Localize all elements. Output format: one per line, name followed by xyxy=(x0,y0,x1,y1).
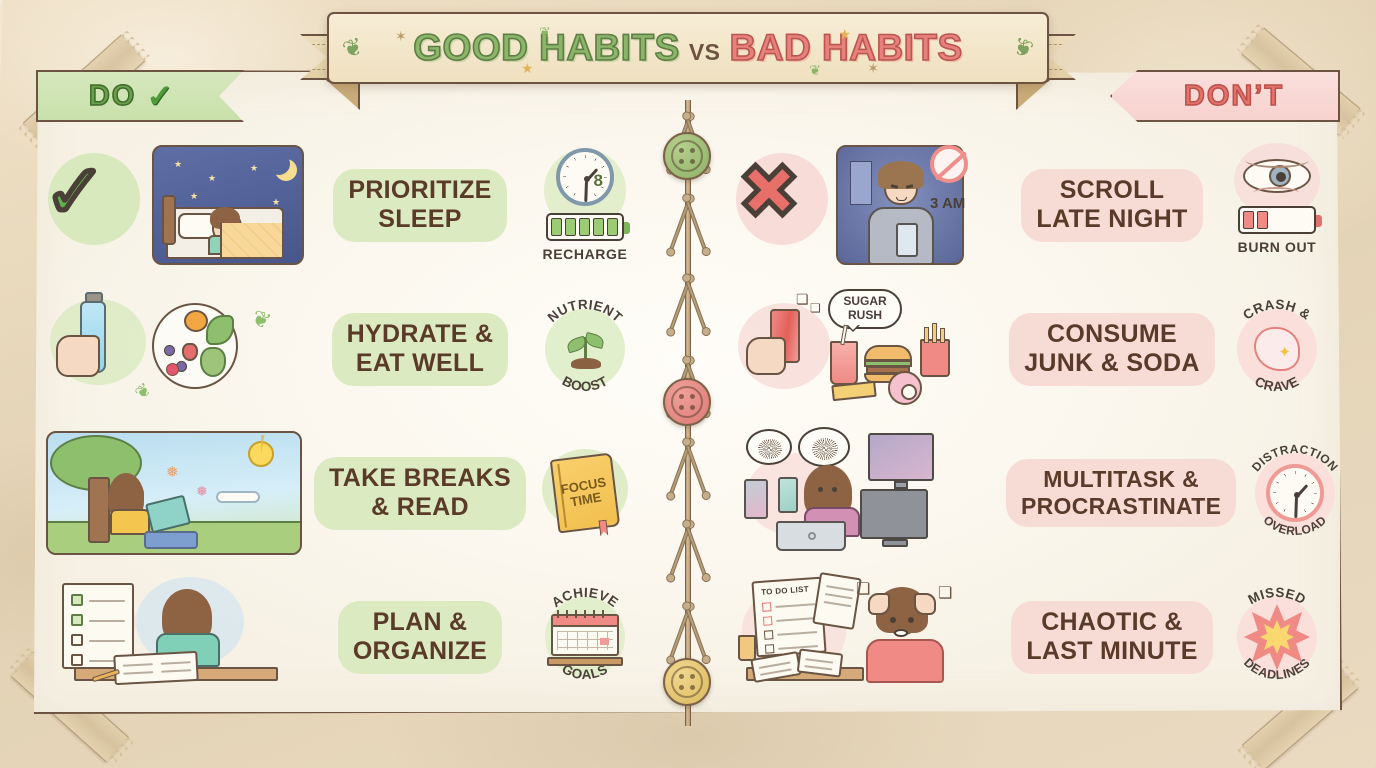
badge-nutrient-boost: NUTRIENT BOOST xyxy=(526,283,644,415)
illustration-boy-on-phone: ✖ 3 AM xyxy=(732,139,1006,271)
phone-icon xyxy=(778,477,798,513)
thought-bubble-1 xyxy=(746,429,792,465)
good-row-plan[interactable]: PLAN & ORGANIZE ACHIEVE GOALS xyxy=(40,568,644,706)
bad-row-multitask[interactable]: MULTITASK & PROCRASTINATE DISTRACTION OV… xyxy=(732,424,1336,562)
good-habits-column: ✓ ★ ★ ★ ★ ★ xyxy=(40,128,644,708)
cloud-icon xyxy=(216,491,260,503)
flag-do[interactable]: DO ✓ xyxy=(36,70,244,122)
divider-button-red[interactable] xyxy=(663,378,711,426)
clock-icon: 8 xyxy=(556,148,614,206)
divider-button-yellow[interactable] xyxy=(663,658,711,706)
tree-trunk xyxy=(88,477,110,543)
star-icon-1: ★ xyxy=(521,60,534,77)
todo-list-title: TO DO LIST xyxy=(761,585,809,597)
sprig-leaf-right-icon: ❦ xyxy=(1009,32,1037,66)
fries-icon xyxy=(920,339,950,377)
book-caption: FOCUS TIME xyxy=(560,475,610,511)
tablet-icon xyxy=(744,479,768,519)
red-cross-icon: ✖ xyxy=(738,155,800,229)
stitched-divider xyxy=(676,100,700,726)
illustration-panicked-girl: TO DO LIST xyxy=(732,571,1006,703)
leaf-icon-2: ❦ xyxy=(809,62,821,79)
sprout-icon xyxy=(565,329,605,369)
donut-icon xyxy=(888,371,922,405)
girl-jeans xyxy=(144,531,198,549)
title-banner: ❦ ❦ ✶ ❦ ★ ★ ✶ ❦ GOOD HABITS VS BAD HABIT… xyxy=(327,12,1049,84)
sun-icon xyxy=(248,441,274,467)
no-phone-icon xyxy=(930,145,968,183)
good-row-hydrate[interactable]: ❦ ❦ HYDRATE & EAT WELL NUTRIENT BOOST xyxy=(40,280,644,418)
illustration-junk-food: ❏ ❏ SUGAR RUSH xyxy=(732,283,1006,415)
illustration-reading-under-tree: ❅ ❅ xyxy=(40,427,314,559)
monitor-icon xyxy=(868,433,934,481)
flag-dont-label: DON’T xyxy=(1184,80,1284,113)
battery-low-icon xyxy=(1238,206,1316,234)
badge-caption-burnout: BURN OUT xyxy=(1238,239,1317,255)
divider-button-green[interactable] xyxy=(663,132,711,180)
flag-dont[interactable]: DON’T xyxy=(1110,70,1340,122)
check-icon: ✓ xyxy=(146,77,175,115)
hand xyxy=(56,335,100,377)
bad-row-scroll[interactable]: ✖ 3 AM SCROLL LATE NIGHT xyxy=(732,136,1336,274)
good-row-sleep[interactable]: ✓ ★ ★ ★ ★ ★ xyxy=(40,136,644,274)
scene-tag-3am: 3 AM xyxy=(930,195,965,212)
bad-label-multitask: MULTITASK & PROCRASTINATE xyxy=(1006,459,1236,527)
page-title: GOOD HABITS VS BAD HABITS xyxy=(413,27,962,69)
illustration-multitasking xyxy=(732,427,1006,559)
night-scene: ★ ★ ★ ★ ★ xyxy=(152,145,304,265)
badge-recharge: 8 RECHARGE xyxy=(526,139,644,271)
good-label-sleep: PRIORITIZE SLEEP xyxy=(333,169,506,242)
title-vs: VS xyxy=(689,39,721,66)
bad-label-junk: CONSUME JUNK & SODA xyxy=(1009,313,1215,386)
laptop-icon xyxy=(776,521,846,551)
day-scene: ❅ ❅ xyxy=(46,431,302,555)
star-icon-2: ★ xyxy=(838,26,851,43)
sparkle-icon-2: ✶ xyxy=(867,60,879,77)
leaf-icon: ❦ xyxy=(248,304,275,335)
badge-distraction-overload: DISTRACTION OVERLOAD xyxy=(1236,427,1354,559)
calendar-icon xyxy=(547,608,623,666)
flying-paper xyxy=(812,572,862,630)
good-label-hydrate: HYDRATE & EAT WELL xyxy=(332,313,509,386)
battery-full-icon xyxy=(546,213,624,241)
bad-label-scroll: SCROLL LATE NIGHT xyxy=(1021,169,1202,242)
thought-bubble-2 xyxy=(798,427,850,467)
starburst-icon xyxy=(1244,604,1310,670)
infographic-canvas: ❦ ❦ ✶ ❦ ★ ★ ✶ ❦ GOOD HABITS VS BAD HABIT… xyxy=(0,0,1376,768)
good-label-plan: PLAN & ORGANIZE xyxy=(338,601,502,674)
flag-do-label: DO xyxy=(89,80,137,113)
badge-missed-deadlines: MISSED DEADLINES xyxy=(1218,571,1336,703)
speech-bubble-sugar-rush: SUGAR RUSH xyxy=(828,289,902,329)
sprig-leaf-left-icon: ❦ xyxy=(339,32,367,66)
bed xyxy=(166,207,284,259)
quilt xyxy=(220,223,282,257)
sparkle-icon: ✶ xyxy=(395,28,407,45)
open-notebook xyxy=(113,651,198,685)
moon-icon xyxy=(268,153,290,175)
snack-bar-icon xyxy=(831,381,876,402)
good-label-breaks: TAKE BREAKS & READ xyxy=(314,457,526,530)
girl-shirt xyxy=(110,509,150,535)
alarm-clock-icon xyxy=(1266,464,1324,522)
soda-cup-icon xyxy=(830,341,858,385)
girl-shirt xyxy=(866,639,944,683)
phone-icon xyxy=(896,223,918,257)
badge-focus-time: FOCUS TIME xyxy=(526,427,644,559)
tired-eye-icon xyxy=(1239,155,1315,199)
badge-achieve-goals: ACHIEVE GOALS xyxy=(526,571,644,703)
bad-label-chaotic: CHAOTIC & LAST MINUTE xyxy=(1011,601,1212,674)
hand xyxy=(746,337,786,375)
healthy-plate-icon xyxy=(152,303,238,389)
leaf-icon-2: ❦ xyxy=(131,379,156,405)
illustration-girl-sleeping: ✓ ★ ★ ★ ★ ★ xyxy=(40,139,314,271)
bad-row-chaotic[interactable]: TO DO LIST xyxy=(732,568,1336,706)
good-row-breaks[interactable]: ❅ ❅ TAKE BREAKS & READ FOCUS TIME xyxy=(40,424,644,562)
badge-crash-crave: CRASH & CRAVE ✦ xyxy=(1218,283,1336,415)
leaf-icon-1: ❦ xyxy=(539,24,551,41)
green-check-icon: ✓ xyxy=(44,155,106,229)
badge-burn-out: BURN OUT xyxy=(1218,139,1336,271)
scattered-paper-2 xyxy=(797,648,844,677)
clock-number: 8 xyxy=(594,171,603,191)
bad-row-junk[interactable]: ❏ ❏ SUGAR RUSH xyxy=(732,280,1336,418)
focus-book-icon: FOCUS TIME xyxy=(550,452,621,533)
hand-right xyxy=(914,593,936,615)
bad-habits-column: ✖ 3 AM SCROLL LATE NIGHT xyxy=(732,128,1336,708)
pencil-cup xyxy=(738,635,756,661)
second-monitor-icon xyxy=(860,489,928,539)
badge-caption-recharge: RECHARGE xyxy=(543,246,628,262)
hand-left xyxy=(868,593,890,615)
illustration-girl-planning xyxy=(40,571,314,703)
spark-icon: ✦ xyxy=(1278,343,1291,361)
illustration-water-and-food: ❦ ❦ xyxy=(40,283,314,415)
